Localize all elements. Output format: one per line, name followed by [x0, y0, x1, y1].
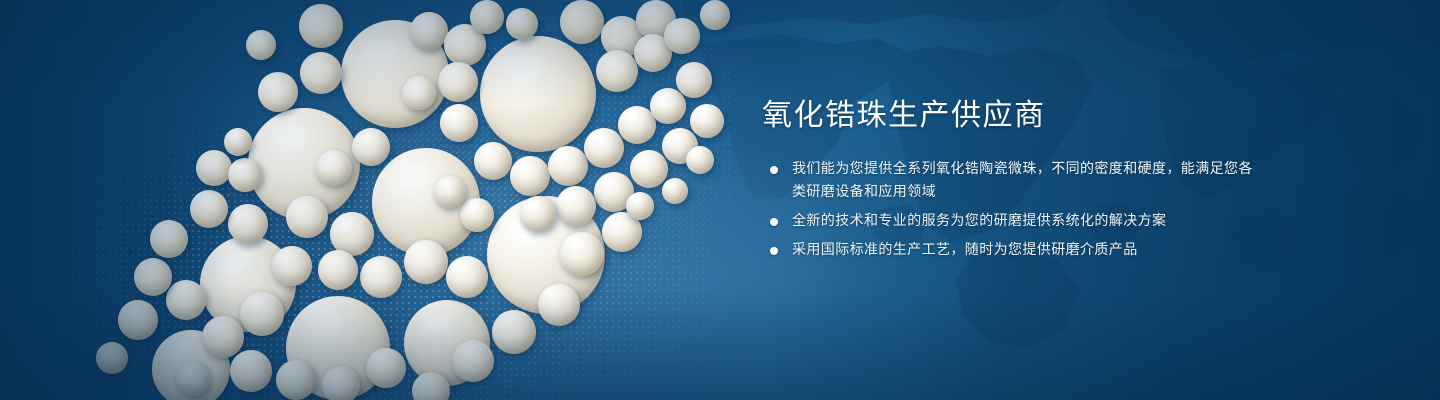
feature-list: 我们能为您提供全系列氧化锆陶瓷微珠，不同的密度和硬度，能满足您各类研磨设备和应用…: [762, 158, 1262, 262]
list-item: 我们能为您提供全系列氧化锆陶瓷微珠，不同的密度和硬度，能满足您各类研磨设备和应用…: [762, 158, 1262, 204]
list-item-text: 全新的技术和专业的服务为您的研磨提供系统化的解决方案: [792, 213, 1166, 229]
bullet-dot-icon: [770, 166, 778, 174]
list-item-text: 我们能为您提供全系列氧化锆陶瓷微珠，不同的密度和硬度，能满足您各类研磨设备和应用…: [792, 161, 1253, 200]
bullet-dot-icon: [770, 218, 778, 226]
list-item: 采用国际标准的生产工艺，随时为您提供研磨介质产品: [762, 239, 1262, 262]
bullet-dot-icon: [770, 247, 778, 255]
list-item-text: 采用国际标准的生产工艺，随时为您提供研磨介质产品: [792, 242, 1138, 258]
banner-copy: 氧化锆珠生产供应商 我们能为您提供全系列氧化锆陶瓷微珠，不同的密度和硬度，能满足…: [762, 96, 1262, 262]
hero-banner: 氧化锆珠生产供应商 我们能为您提供全系列氧化锆陶瓷微珠，不同的密度和硬度，能满足…: [0, 0, 1440, 400]
page-title: 氧化锆珠生产供应商: [762, 96, 1262, 136]
list-item: 全新的技术和专业的服务为您的研磨提供系统化的解决方案: [762, 210, 1262, 233]
